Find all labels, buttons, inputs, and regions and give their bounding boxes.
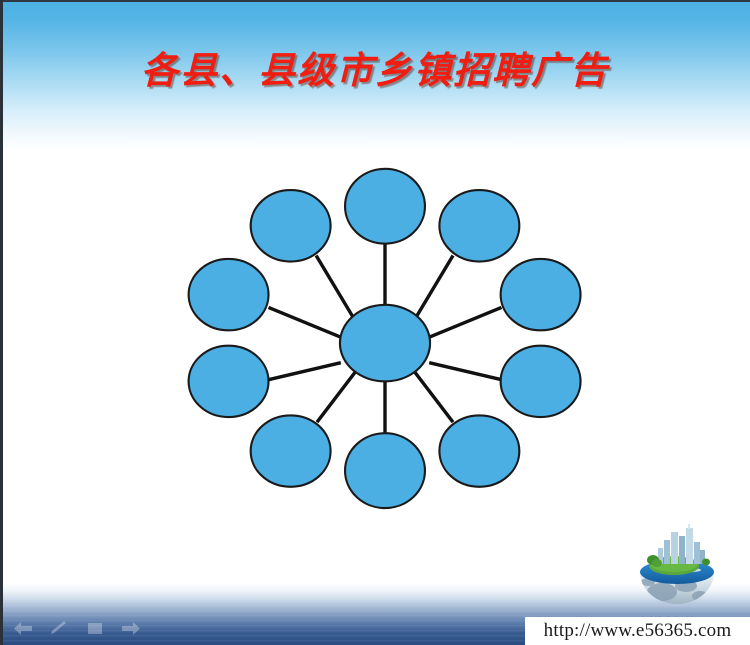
city-skyline xyxy=(658,524,705,564)
stop-square-icon[interactable] xyxy=(84,620,106,637)
watermark-bar: http://www.e56365.com xyxy=(525,617,750,645)
satellite-node xyxy=(345,169,425,244)
satellite-node xyxy=(439,415,519,486)
connector-line xyxy=(269,307,341,337)
satellite-node xyxy=(251,415,331,486)
globe-logo-graphic xyxy=(628,522,726,614)
eco-city-globe-logo xyxy=(628,522,726,614)
watermark-url: http://www.e56365.com xyxy=(544,620,732,642)
slide-top-border xyxy=(0,0,750,2)
slide-left-border xyxy=(0,0,3,645)
satellite-node xyxy=(189,346,269,417)
satellite-node xyxy=(501,259,581,330)
connector-line xyxy=(317,372,355,422)
satellite-node xyxy=(251,190,331,261)
connector-line xyxy=(415,372,453,422)
presentation-slide: 各县、县级市乡镇招聘广告 xyxy=(0,0,750,645)
connector-line xyxy=(415,256,453,320)
back-arrow-icon[interactable] xyxy=(12,620,34,637)
radial-diagram-canvas xyxy=(175,125,595,540)
satellite-node xyxy=(345,433,425,508)
forward-arrow-icon[interactable] xyxy=(120,620,142,637)
radial-diagram xyxy=(175,125,595,540)
satellite-node xyxy=(439,190,519,261)
connector-line xyxy=(316,256,354,320)
satellite-node xyxy=(189,259,269,330)
connector-line xyxy=(269,363,341,380)
slide-title: 各县、县级市乡镇招聘广告 xyxy=(0,40,750,94)
satellite-node xyxy=(501,346,581,417)
pen-icon[interactable] xyxy=(48,620,70,637)
center-node xyxy=(340,305,430,382)
connector-line xyxy=(429,363,501,380)
slide-navigation-bar[interactable] xyxy=(12,620,142,637)
connector-line xyxy=(429,307,501,337)
